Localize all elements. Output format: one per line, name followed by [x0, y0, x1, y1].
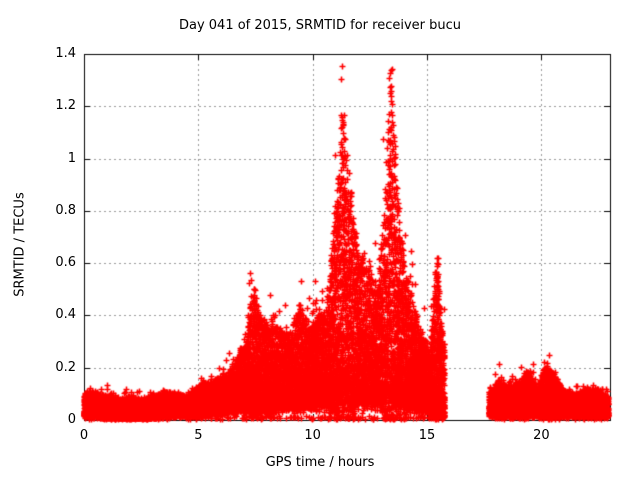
x-tick-label: 5: [178, 428, 218, 443]
x-tick-label: 20: [521, 428, 561, 443]
x-tick-label: 0: [64, 428, 104, 443]
y-tick-label: 0.8: [16, 203, 76, 218]
chart-page: Day 041 of 2015, SRMTID for receiver buc…: [0, 0, 640, 480]
y-tick-label: 0: [16, 412, 76, 427]
x-tick-label: 10: [293, 428, 333, 443]
x-tick-label: 15: [407, 428, 447, 443]
y-tick-label: 0.2: [16, 360, 76, 375]
y-tick-label: 0.4: [16, 307, 76, 322]
x-axis-label: GPS time / hours: [0, 455, 640, 470]
y-tick-label: 0.6: [16, 255, 76, 270]
y-tick-label: 1.4: [16, 46, 76, 61]
y-tick-label: 1.2: [16, 98, 76, 113]
scatter-plot-canvas: [0, 0, 640, 480]
y-tick-label: 1: [16, 151, 76, 166]
